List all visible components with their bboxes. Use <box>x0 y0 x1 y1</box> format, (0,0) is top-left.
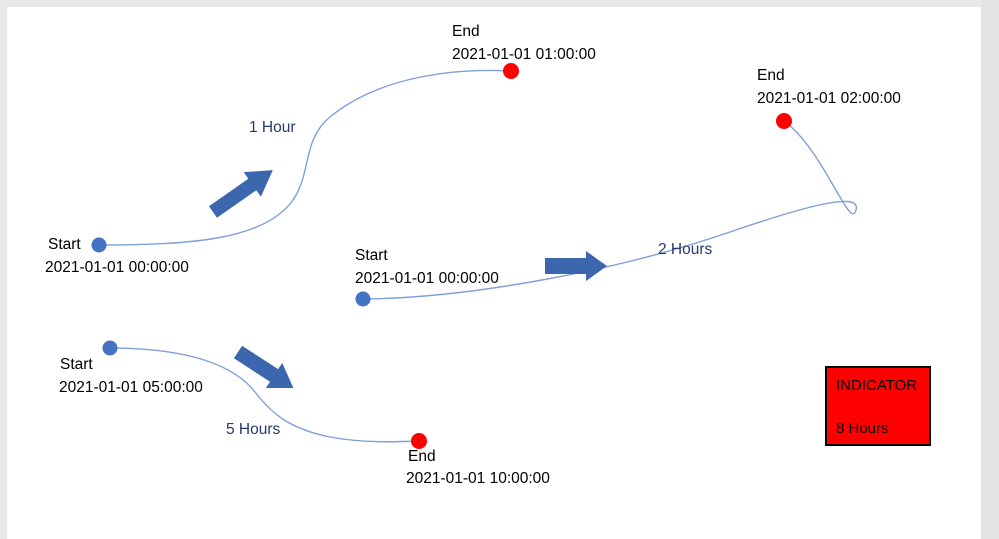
flow-1-start-dot <box>92 238 107 253</box>
diagram-canvas: Start 2021-01-01 00:00:00 End 2021-01-01… <box>0 0 999 539</box>
flow-1-end-value: 2021-01-01 01:00:00 <box>452 45 596 64</box>
flow-1-end-dot <box>503 63 519 79</box>
flow-3-duration-label: 5 Hours <box>226 421 280 439</box>
flow-1-block-arrow <box>204 158 281 224</box>
flow-3-end-value: 2021-01-01 10:00:00 <box>406 469 550 488</box>
flow-2-start-label: Start <box>355 246 388 265</box>
flow-1-curve <box>99 70 511 245</box>
flow-1-end-label: End <box>452 22 480 41</box>
flow-2-end-value: 2021-01-01 02:00:00 <box>757 89 901 108</box>
flow-3-block-arrow <box>230 339 302 400</box>
flow-2-block-arrow <box>545 251 607 281</box>
flow-1-start-label: Start <box>48 235 81 254</box>
indicator-title: INDICATOR <box>836 377 917 394</box>
flow-3-start-dot <box>103 341 118 356</box>
flow-2-end-label: End <box>757 66 785 85</box>
flow-3-start-value: 2021-01-01 05:00:00 <box>59 378 203 397</box>
flow-3-end-label: End <box>408 447 436 466</box>
flow-3-start-label: Start <box>60 355 93 374</box>
flow-2-duration-label: 2 Hours <box>658 241 712 259</box>
flow-2-end-dot <box>776 113 792 129</box>
flow-1-duration-label: 1 Hour <box>249 119 296 137</box>
indicator-value: 8 Hours <box>836 420 889 437</box>
flow-1-start-value: 2021-01-01 00:00:00 <box>45 258 189 277</box>
flow-2-start-dot <box>356 292 371 307</box>
flow-2-start-value: 2021-01-01 00:00:00 <box>355 269 499 288</box>
indicator-box[interactable]: INDICATOR 8 Hours <box>825 366 931 446</box>
